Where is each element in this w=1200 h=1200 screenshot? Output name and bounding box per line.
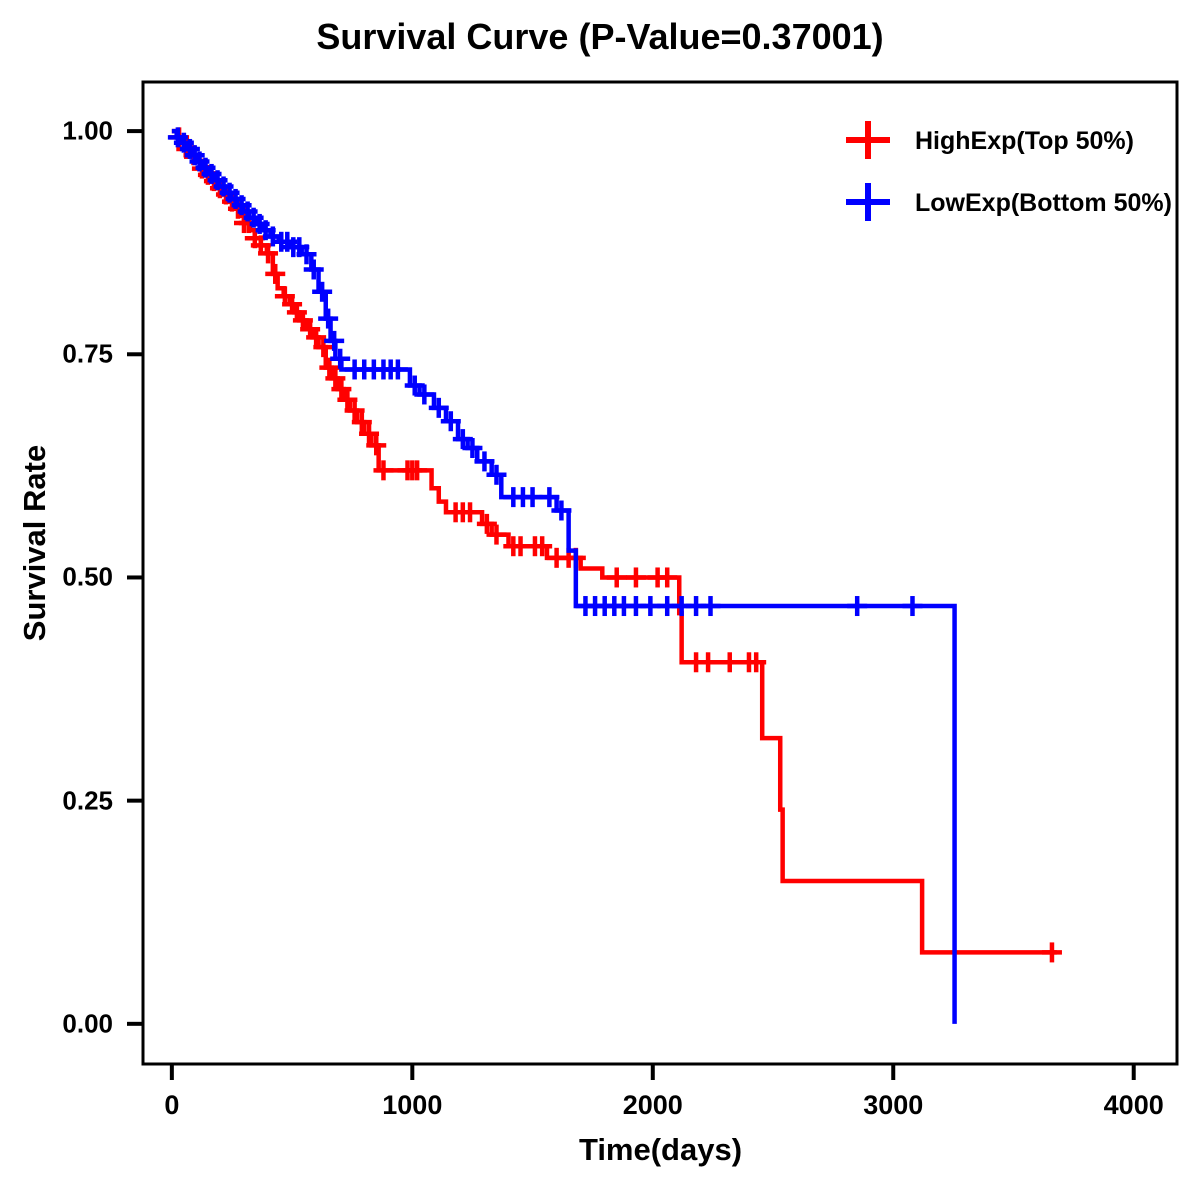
legend-item[interactable]: HighExp(Top 50%): [846, 121, 1134, 159]
series-layer: [168, 127, 1062, 1023]
step-line: [172, 131, 955, 1024]
plot-canvas: HighExp(Top 50%)LowExp(Bottom 50%): [0, 0, 1200, 1200]
axes-frame: [143, 82, 1177, 1064]
legend-label: HighExp(Top 50%): [915, 127, 1134, 155]
plot-border: [143, 82, 1177, 1064]
legend: HighExp(Top 50%)LowExp(Bottom 50%): [846, 121, 1172, 221]
series-lowexp: [168, 127, 955, 1023]
legend-item[interactable]: LowExp(Bottom 50%): [846, 183, 1172, 221]
survival-curve-figure: Survival Curve (P-Value=0.37001) Surviva…: [0, 0, 1200, 1200]
legend-label: LowExp(Bottom 50%): [915, 189, 1172, 217]
censor-marks: [168, 127, 923, 616]
